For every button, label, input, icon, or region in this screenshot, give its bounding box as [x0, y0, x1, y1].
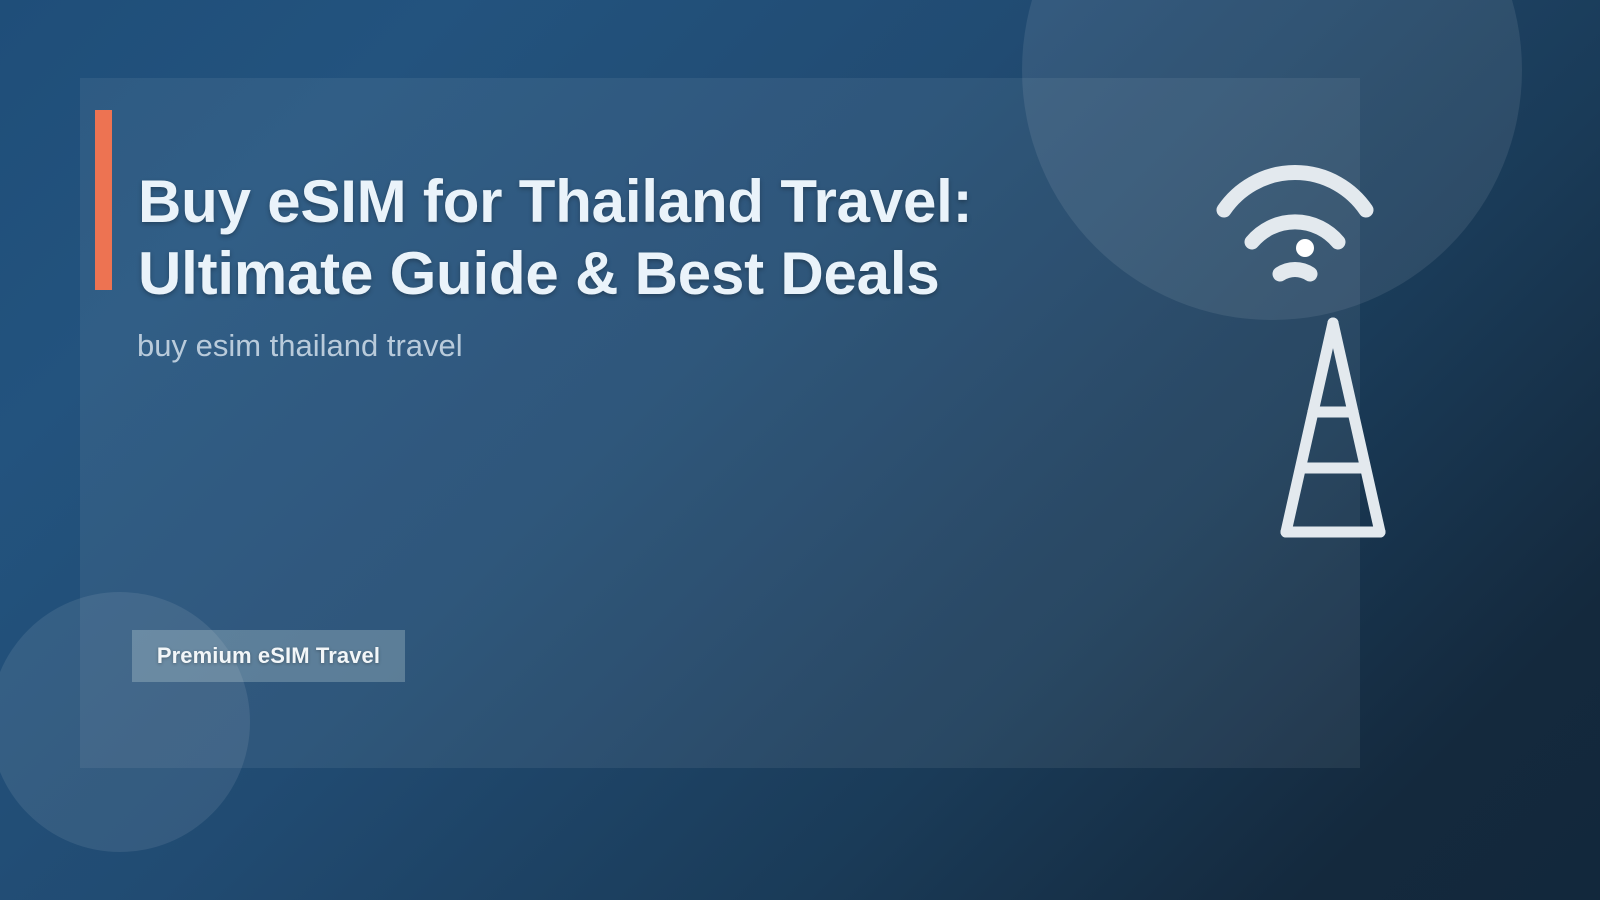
page-title: Buy eSIM for Thailand Travel: Ultimate G…	[138, 166, 1038, 310]
accent-bar	[95, 110, 112, 290]
title-line-1: Buy eSIM for Thailand Travel:	[138, 166, 1038, 238]
subtitle: buy esim thailand travel	[137, 326, 463, 366]
title-line-2: Ultimate Guide & Best Deals	[138, 238, 1038, 310]
status-badge: Premium eSIM Travel	[132, 630, 405, 682]
slide-canvas: Buy eSIM for Thailand Travel: Ultimate G…	[0, 0, 1600, 900]
status-badge-label: Premium eSIM Travel	[157, 643, 380, 669]
